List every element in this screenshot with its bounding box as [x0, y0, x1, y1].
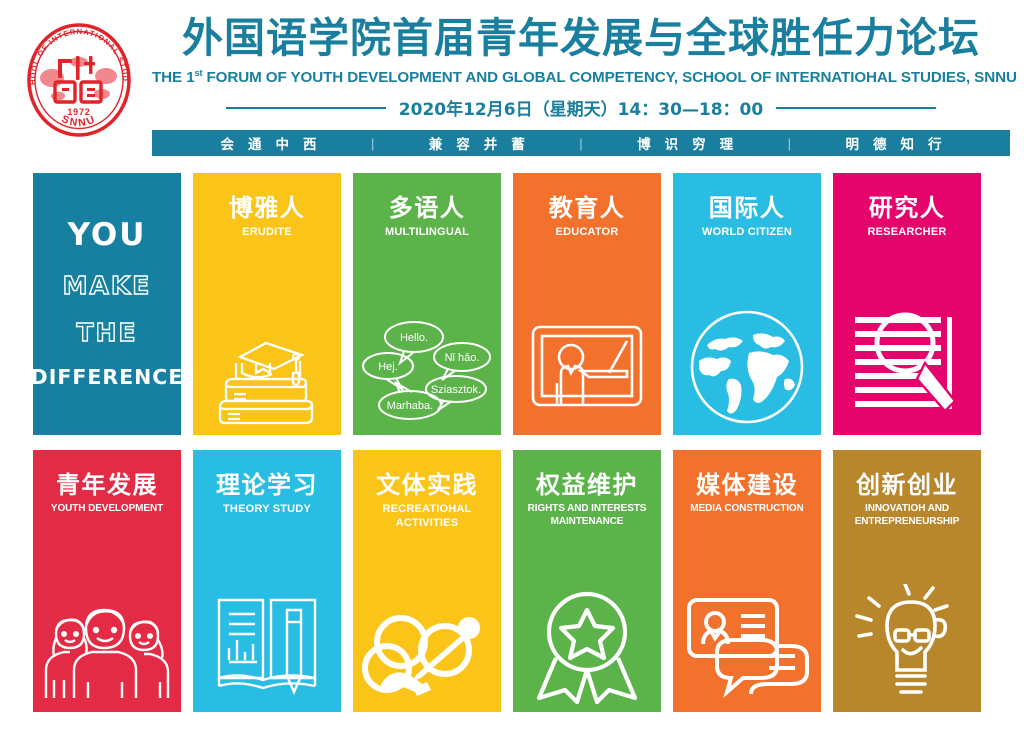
card-title-en: RESEARCHER	[863, 226, 950, 240]
card-title-en: MEDIA CONSTRUCTION	[686, 503, 807, 516]
card-row-2: 青年发展 YOUTH DEVELOPMENT	[33, 450, 995, 712]
card-title-cn: 文体实践	[376, 472, 478, 498]
header-text-block: 外国语学院首届青年发展与全球胜任力论坛 THE 1st FORUM OF YOU…	[152, 14, 1010, 156]
motto-char: 理	[720, 133, 734, 153]
card-title-en: EDUCATOR	[552, 226, 623, 240]
svg-text:1972: 1972	[67, 107, 90, 117]
hero-line-the: THE	[76, 320, 137, 345]
card-title-en: WORLD CITIZEN	[698, 226, 796, 240]
card-recreational-activities: 文体实践 RECREATIOHAL ACTIVITIES	[353, 450, 501, 712]
subtitle-pre: THE 1	[152, 69, 195, 86]
id-card-chat-icon	[673, 566, 821, 706]
card-educator: 教育人 EDUCATOR	[513, 173, 661, 435]
sports-arts-icon	[353, 566, 501, 706]
card-title-cn: 教育人	[549, 195, 626, 221]
motto-group-4: 明 德 知 行	[845, 133, 941, 153]
motto-char: 容	[456, 133, 470, 153]
card-title-en: RECREATIOHAL ACTIVITIES	[353, 503, 501, 531]
card-title-en: RIGHTS AND INTERESTS MAINTENANCE	[513, 503, 661, 528]
motto-group-3: 博 识 穷 理	[637, 133, 733, 153]
motto-char: 识	[665, 133, 679, 153]
motto-char: 明	[845, 133, 859, 153]
motto-char: 兼	[429, 133, 443, 153]
card-title-cn: 多语人	[389, 195, 466, 221]
card-title-cn: 研究人	[869, 195, 946, 221]
card-title-en: MULTILINGUAL	[381, 226, 473, 240]
card-grid: YOU MAKE THE DIFFERENCE 博雅人 ERUDITE	[33, 173, 995, 712]
date-row: 2020年12月6日（星期天）14：30—18：00	[152, 95, 1010, 120]
snnu-seal-icon: SCHOOL OF INTERNATIONAL STUDIES SNNU	[18, 18, 140, 142]
motto-separator: |	[579, 136, 582, 151]
card-title-en: ERUDITE	[238, 226, 296, 240]
svg-text:Sziasztok.: Sziasztok.	[431, 384, 481, 396]
date-rule-left	[226, 107, 386, 109]
card-theory-study: 理论学习 THEORY STUDY	[193, 450, 341, 712]
motto-group-1: 会 通 中 西	[220, 133, 316, 153]
motto-separator: |	[371, 136, 374, 151]
subtitle-english: THE 1st FORUM OF YOUTH DEVELOPMENT AND G…	[152, 68, 1010, 86]
card-title-en: THEORY STUDY	[219, 503, 315, 517]
magnifier-document-icon	[833, 289, 981, 429]
card-row-1: YOU MAKE THE DIFFERENCE 博雅人 ERUDITE	[33, 173, 995, 435]
motto-char: 行	[928, 133, 942, 153]
card-title-cn: 理论学习	[216, 472, 318, 498]
card-world-citizen: 国际人 WORLD CITIZEN	[673, 173, 821, 435]
page-title: 外国语学院首届青年发展与全球胜任力论坛	[152, 14, 1010, 62]
lightbulb-face-icon	[833, 566, 981, 706]
svg-text:Marhaba.: Marhaba.	[387, 400, 433, 412]
svg-text:Hej.: Hej.	[378, 361, 398, 373]
motto-char: 通	[248, 133, 262, 153]
motto-bar: 会 通 中 西 | 兼 容 并 蓄 | 博 识 穷 理	[152, 130, 1010, 156]
open-book-pencil-icon	[193, 566, 341, 706]
card-innovation-entrepreneurship: 创新创业 INNOVATIOH AND ENTREPRENEURSHIP	[833, 450, 981, 712]
card-title-cn: 青年发展	[56, 472, 158, 498]
card-hero-slogan: YOU MAKE THE DIFFERENCE	[33, 173, 181, 435]
card-rights-interests: 权益维护 RIGHTS AND INTERESTS MAINTENANCE	[513, 450, 661, 712]
teacher-blackboard-icon	[513, 289, 661, 429]
three-people-icon	[33, 566, 181, 706]
hero-line-make: MAKE	[63, 273, 152, 298]
motto-char: 蓄	[511, 133, 525, 153]
school-logo: SCHOOL OF INTERNATIONAL STUDIES SNNU	[18, 18, 140, 142]
card-title-cn: 国际人	[709, 195, 786, 221]
motto-separator: |	[788, 136, 791, 151]
poster-header: SCHOOL OF INTERNATIONAL STUDIES SNNU	[0, 0, 1024, 163]
svg-text:Hello.: Hello.	[400, 332, 428, 344]
card-title-cn: 媒体建设	[696, 472, 798, 498]
motto-char: 穷	[692, 133, 706, 153]
card-media-construction: 媒体建设 MEDIA CONSTRUCTION	[673, 450, 821, 712]
card-title-cn: 博雅人	[229, 195, 306, 221]
date-rule-right	[776, 107, 936, 109]
card-title-en: INNOVATIOH AND ENTREPRENEURSHIP	[833, 503, 981, 528]
card-title-en: YOUTH DEVELOPMENT	[47, 503, 167, 516]
graduation-cap-books-icon	[193, 289, 341, 429]
card-title-cn: 创新创业	[856, 472, 958, 498]
globe-icon	[673, 289, 821, 429]
award-ribbon-star-icon	[513, 566, 661, 706]
motto-char: 德	[873, 133, 887, 153]
poster-root: SCHOOL OF INTERNATIONAL STUDIES SNNU	[0, 0, 1024, 751]
card-researcher: 研究人 RESEARCHER	[833, 173, 981, 435]
svg-text:Nǐ hǎo.: Nǐ hǎo.	[445, 352, 480, 364]
motto-char: 会	[220, 133, 234, 153]
card-erudite: 博雅人 ERUDITE	[193, 173, 341, 435]
hero-line-difference: DIFFERENCE	[33, 367, 181, 388]
hero-line-you: YOU	[68, 220, 147, 251]
subtitle-post: FORUM OF YOUTH DEVELOPMENT AND GLOBAL CO…	[202, 69, 1016, 86]
motto-char: 中	[275, 133, 289, 153]
event-datetime: 2020年12月6日（星期天）14：30—18：00	[399, 95, 763, 120]
motto-char: 并	[484, 133, 498, 153]
card-title-cn: 权益维护	[536, 472, 638, 498]
motto-char: 博	[637, 133, 651, 153]
motto-char: 西	[303, 133, 317, 153]
speech-bubbles-icon: Hello. Nǐ hǎo. Hej. Sziasztok.	[353, 289, 501, 429]
card-multilingual: 多语人 MULTILINGUAL Hello. Nǐ hǎo.	[353, 173, 501, 435]
motto-char: 知	[900, 133, 914, 153]
motto-group-2: 兼 容 并 蓄	[429, 133, 525, 153]
card-youth-development: 青年发展 YOUTH DEVELOPMENT	[33, 450, 181, 712]
